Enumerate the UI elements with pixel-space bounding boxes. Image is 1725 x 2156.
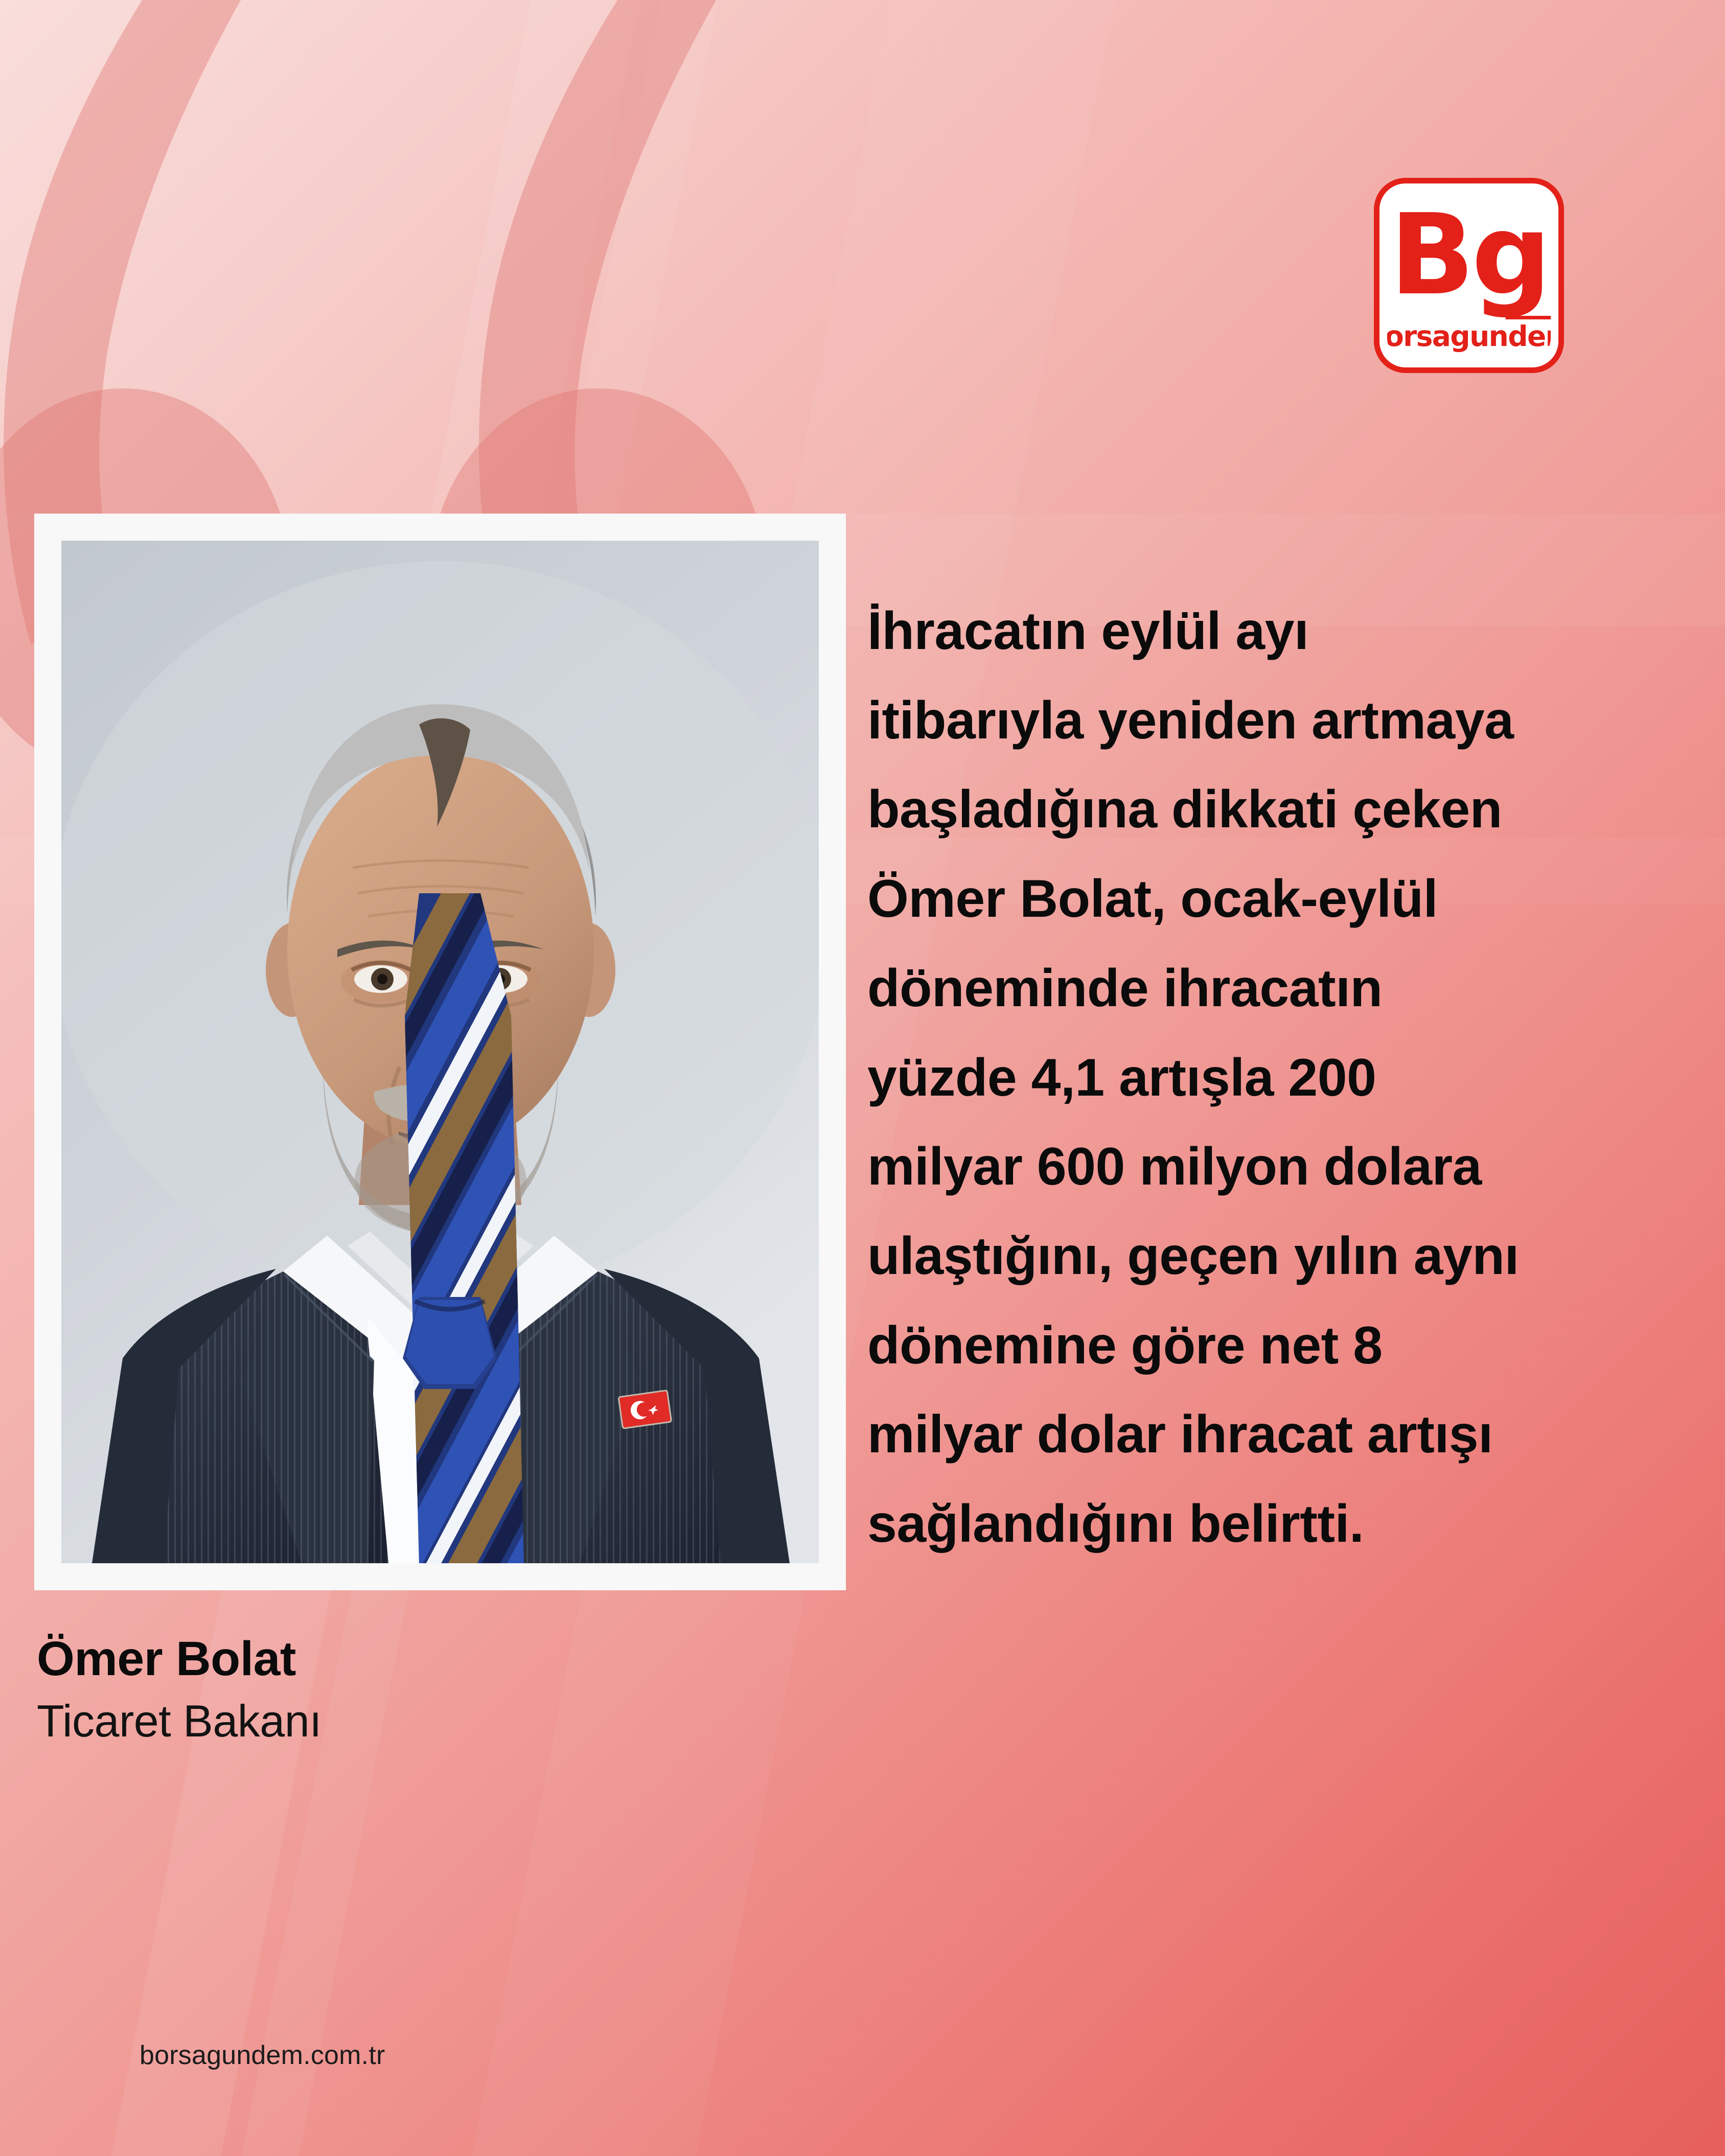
speaker-role: Ticaret Bakanı [37,1695,855,1747]
quote-card: Bg Borsagundem [0,0,1725,2156]
logo-wordmark-wrap: Borsagundem [1384,322,1554,351]
attribution-block: Ömer Bolat Ticaret Bakanı [37,1631,855,1747]
quote-line: milyar dolar ihracat artışı [867,1390,1706,1479]
logo-bg-mark: Bg [1390,200,1548,311]
quote-line: dönemine göre net 8 [867,1301,1706,1390]
footer-website-url[interactable]: borsagundem.com.tr [140,2040,385,2071]
quote-line: ulaştığını, geçen yılın aynı [867,1212,1706,1301]
portrait-illustration [61,541,819,1563]
omer-bolat-portrait [61,541,819,1563]
quote-line: yüzde 4,1 artışla 200 [867,1033,1706,1123]
logo-overline-rule [1505,316,1554,319]
quote-line: sağlandığını belirtti. [867,1479,1706,1569]
speaker-name: Ömer Bolat [37,1631,855,1687]
logo-inner-panel: Bg Borsagundem [1384,188,1554,363]
logo-wordmark: Borsagundem [1384,322,1554,351]
quote-line: milyar 600 milyon dolara [867,1122,1706,1212]
borsagundem-logo[interactable]: Bg Borsagundem [1374,178,1564,373]
quote-line: Ömer Bolat, ocak-eylül [867,854,1706,944]
portrait-frame [34,514,846,1590]
quote-line: döneminde ihracatın [867,944,1706,1033]
quote-text: İhracatın eylül ayı itibarıyla yeniden a… [867,587,1706,1569]
quote-line: İhracatın eylül ayı [867,587,1706,676]
quote-line: itibarıyla yeniden artmaya [867,676,1706,766]
quote-line: başladığına dikkati çeken [867,765,1706,854]
